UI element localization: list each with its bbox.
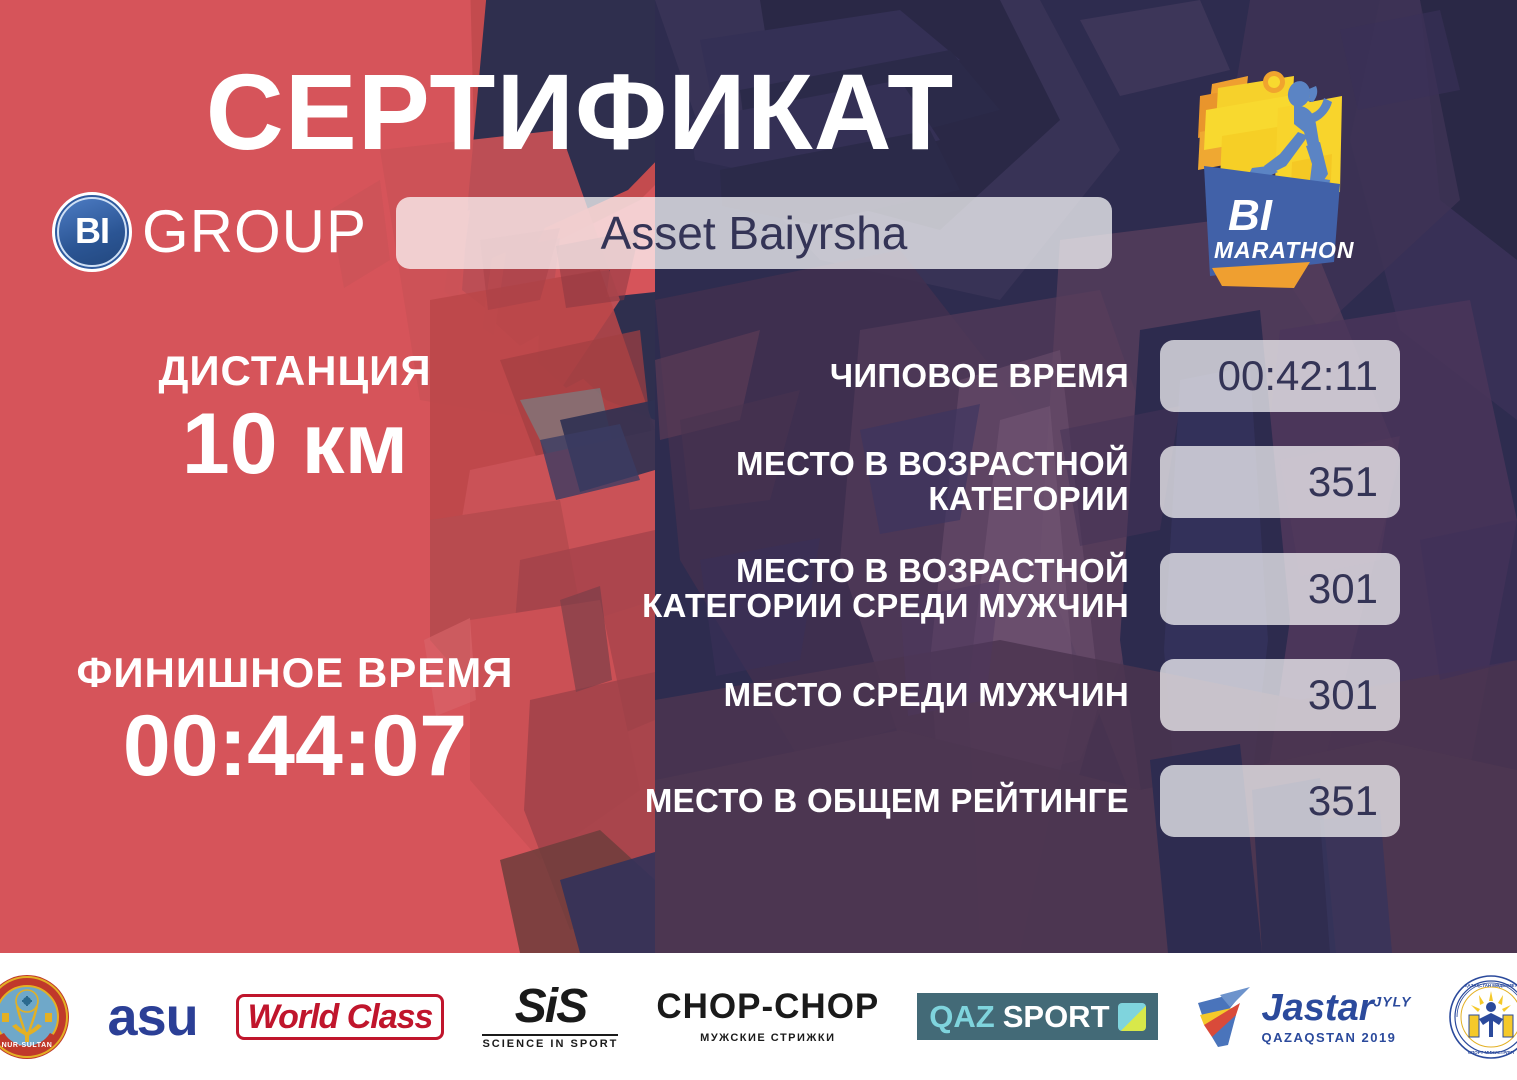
- sponsor-qazsport-label-b: SPORT: [1003, 1001, 1110, 1032]
- participant-name-pill: Asset Baiyrsha: [396, 197, 1112, 269]
- stat-label-overall-place: МЕСТО В ОБЩЕМ РЕЙТИНГЕ: [600, 784, 1160, 819]
- jastar-bird-icon: [1196, 985, 1258, 1049]
- stat-pill-overall-place: 351: [1160, 765, 1400, 837]
- stat-value-overall-place: 351: [1308, 780, 1378, 822]
- sponsor-world-class: World Class: [236, 994, 445, 1040]
- stat-label-age-category-men-place: МЕСТО В ВОЗРАСТНОЙ КАТЕГОРИИ СРЕДИ МУЖЧИ…: [600, 554, 1160, 624]
- sponsor-ministry-seal: ҚАЗАҚСТАН МӘДЕНИЕТ СПОРТ МИНИСТРЛІГІ: [1449, 975, 1517, 1059]
- stat-pill-chip-time: 00:42:11: [1160, 340, 1400, 412]
- distance-value: 10 км: [30, 399, 560, 489]
- stat-row: МЕСТО В ОБЩЕМ РЕЙТИНГЕ 351: [600, 765, 1400, 837]
- bi-badge-icon: BI: [52, 192, 132, 272]
- sponsor-jastar-sub: QAZAQSTAN 2019: [1262, 1030, 1412, 1045]
- finish-time-label: ФИНИШНОЕ ВРЕМЯ: [30, 650, 560, 695]
- finish-time-value: 00:44:07: [30, 701, 560, 791]
- certificate: СЕРТИФИКАТ BI GROUP Asset Baiyrsha: [0, 0, 1517, 1080]
- sponsor-jastar: JastarJYLY QAZAQSTAN 2019: [1196, 985, 1412, 1049]
- svg-text:MARATHON: MARATHON: [1214, 237, 1354, 263]
- stat-row: МЕСТО СРЕДИ МУЖЧИН 301: [600, 659, 1400, 731]
- sponsor-asu: asu: [108, 990, 198, 1044]
- sponsor-bar: NUR-SULTAN asu World Class SiS SCIENCE I…: [0, 953, 1517, 1080]
- stat-pill-age-category-place: 351: [1160, 446, 1400, 518]
- stat-row: ЧИПОВОЕ ВРЕМЯ 00:42:11: [600, 340, 1400, 412]
- sponsor-chop-chop-label: CHOP-CHOP: [656, 989, 879, 1024]
- participant-name: Asset Baiyrsha: [601, 210, 908, 256]
- svg-text:СПОРТ МИНИСТРЛІГІ: СПОРТ МИНИСТРЛІГІ: [1468, 1050, 1514, 1055]
- sponsor-qazsport-label-a: QAZ: [929, 1001, 994, 1032]
- stat-label-chip-time: ЧИПОВОЕ ВРЕМЯ: [600, 359, 1160, 394]
- stat-label-age-category-place: МЕСТО В ВОЗРАСТНОЙ КАТЕГОРИИ: [600, 447, 1160, 517]
- sponsor-sis-label: SiS: [482, 983, 618, 1031]
- stat-label-men-place: МЕСТО СРЕДИ МУЖЧИН: [600, 678, 1160, 713]
- stat-pill-men-place: 301: [1160, 659, 1400, 731]
- sponsor-jastar-super: JYLY: [1374, 993, 1412, 1009]
- sponsor-asu-label: asu: [108, 990, 198, 1044]
- sponsor-sis: SiS SCIENCE IN SPORT: [482, 983, 618, 1050]
- bi-group-logo: BI GROUP: [52, 192, 367, 272]
- distance-label: ДИСТАНЦИЯ: [30, 348, 560, 393]
- stat-value-age-category-men-place: 301: [1308, 568, 1378, 610]
- stat-pill-age-category-men-place: 301: [1160, 553, 1400, 625]
- sponsor-nur-sultan-emblem: NUR-SULTAN: [0, 974, 70, 1060]
- sponsor-chop-chop-tagline: МУЖСКИЕ СТРИЖКИ: [656, 1032, 879, 1044]
- svg-text:ҚАЗАҚСТАН МӘДЕНИЕТ: ҚАЗАҚСТАН МӘДЕНИЕТ: [1465, 983, 1517, 988]
- page-title: СЕРТИФИКАТ: [0, 58, 1160, 166]
- stat-row: МЕСТО В ВОЗРАСТНОЙ КАТЕГОРИИ 351: [600, 446, 1400, 518]
- stat-value-chip-time: 00:42:11: [1218, 355, 1378, 397]
- qazsport-square-icon: [1118, 1003, 1146, 1031]
- stat-row: МЕСТО В ВОЗРАСТНОЙ КАТЕГОРИИ СРЕДИ МУЖЧИ…: [600, 553, 1400, 625]
- sponsor-qazsport: QAZSPORT: [917, 993, 1157, 1040]
- sponsor-world-class-label: World Class: [248, 1000, 433, 1034]
- bi-group-wordmark: GROUP: [142, 202, 367, 262]
- stat-value-men-place: 301: [1308, 674, 1378, 716]
- bi-badge-label: BI: [75, 213, 109, 249]
- sponsor-jastar-label: Jastar: [1262, 987, 1374, 1029]
- stat-value-age-category-place: 351: [1308, 461, 1378, 503]
- sponsor-chop-chop: CHOP-CHOP МУЖСКИЕ СТРИЖКИ: [656, 989, 879, 1044]
- sponsor-sis-tagline: SCIENCE IN SPORT: [482, 1034, 618, 1050]
- svg-text:NUR-SULTAN: NUR-SULTAN: [1, 1042, 52, 1049]
- finish-time-block: ФИНИШНОЕ ВРЕМЯ 00:44:07: [30, 650, 560, 792]
- svg-text:BI: BI: [1228, 191, 1273, 240]
- bi-marathon-logo: BI MARATHON: [1182, 62, 1372, 292]
- distance-block: ДИСТАНЦИЯ 10 км: [30, 348, 560, 490]
